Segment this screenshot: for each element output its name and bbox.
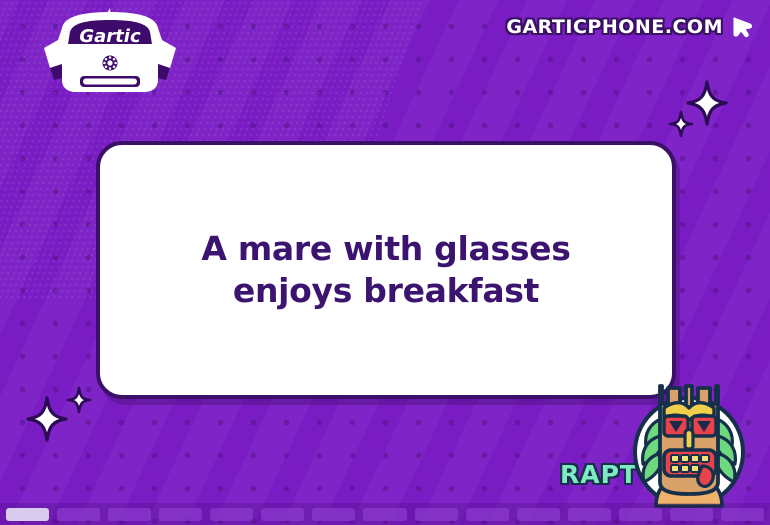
- progress-segment-9: [415, 508, 458, 521]
- progress-segment-10: [466, 508, 509, 521]
- progress-segment-5: [210, 508, 253, 521]
- progress-segment-7: [312, 508, 355, 521]
- game-stage: Gartic PHONE: [0, 0, 770, 525]
- speech-bubble: A mare with glasses enjoys breakfast: [96, 141, 676, 399]
- progress-segment-3: [108, 508, 151, 521]
- sparkle-bottom-left-small-icon: [66, 386, 92, 414]
- site-url-text: GARTICPHONE.COM: [506, 16, 723, 38]
- progress-segment-2: [57, 508, 100, 521]
- progress-segment-8: [363, 508, 406, 521]
- progress-segment-12: [568, 508, 611, 521]
- site-url[interactable]: GARTICPHONE.COM: [506, 15, 754, 39]
- progress-segment-6: [261, 508, 304, 521]
- gartic-phone-logo[interactable]: Gartic PHONE: [40, 6, 180, 98]
- round-progress-bar: [0, 503, 770, 525]
- logo-gartic-text: Gartic: [79, 26, 141, 47]
- progress-segment-13: [619, 508, 662, 521]
- sparkle-top-right-small-icon: [668, 110, 694, 138]
- sparkle-bottom-left-large-icon: [26, 396, 68, 442]
- progress-segment-11: [517, 508, 560, 521]
- prompt-text: A mare with glasses enjoys breakfast: [146, 228, 626, 312]
- progress-segment-4: [159, 508, 202, 521]
- tiki-mask-avatar[interactable]: [624, 382, 754, 512]
- progress-segment-14: [670, 508, 713, 521]
- progress-segment-15: [721, 508, 764, 521]
- progress-segment-1: [6, 508, 49, 521]
- cursor-pointer-icon: [730, 15, 754, 39]
